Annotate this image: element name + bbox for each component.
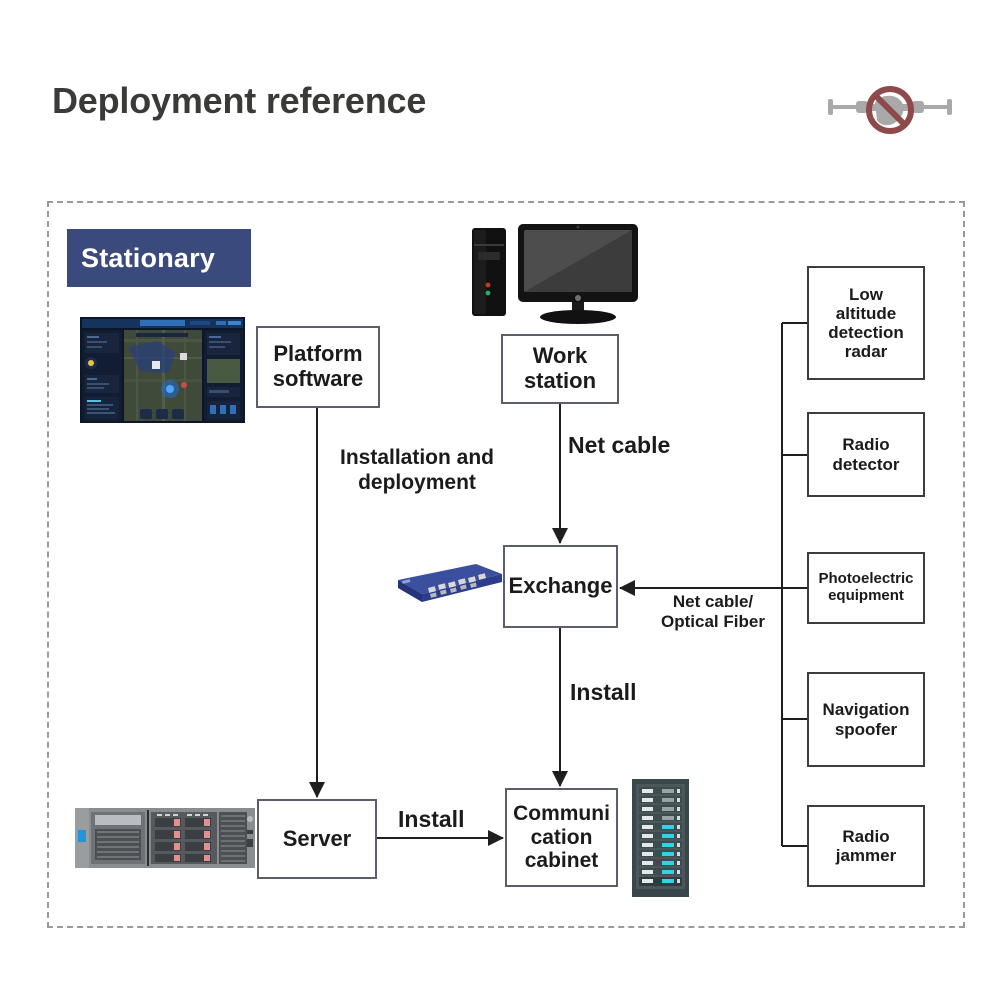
node-communication-cabinet[interactable]: Communi cation cabinet (505, 788, 618, 887)
node-platform-software[interactable]: Platform software (256, 326, 380, 408)
node-communication-cabinet-label: Communi cation cabinet (513, 802, 610, 873)
slide-canvas: Deployment reference Stationary (0, 0, 1000, 1000)
edge-label-install-exchange-cabinet: Install (570, 679, 680, 707)
edge-label-net-cable-optical-fiber: Net cable/ Optical Fiber (638, 592, 788, 633)
device-photoelectric-equipment-label: Photoelectric equipment (818, 571, 913, 605)
device-low-altitude-detection-radar[interactable]: Low altitude detection radar (807, 266, 925, 380)
status-badge-label: Stationary (67, 243, 215, 274)
status-badge-stationary: Stationary (67, 229, 251, 287)
node-work-station-label: Work station (524, 344, 596, 393)
node-server-label: Server (283, 827, 352, 852)
node-server[interactable]: Server (257, 799, 377, 879)
device-navigation-spoofer-label: Navigation spoofer (823, 700, 910, 738)
edge-label-installation-and-deployment: Installation and deployment (322, 445, 512, 495)
node-work-station[interactable]: Work station (501, 334, 619, 404)
edge-label-net-cable: Net cable (568, 432, 708, 460)
no-drone-logo (820, 82, 960, 138)
device-radio-detector[interactable]: Radio detector (807, 412, 925, 497)
edge-label-install-server-cabinet: Install (398, 806, 508, 834)
device-low-altitude-detection-radar-label: Low altitude detection radar (828, 285, 904, 361)
device-radio-jammer-label: Radio jammer (836, 827, 896, 865)
node-exchange[interactable]: Exchange (503, 545, 618, 628)
network-switch-image (392, 562, 504, 609)
device-navigation-spoofer[interactable]: Navigation spoofer (807, 672, 925, 767)
rack-server-image (75, 806, 255, 871)
desktop-computer-image (468, 222, 643, 330)
device-radio-detector-label: Radio detector (832, 435, 899, 473)
node-platform-software-label: Platform software (273, 342, 363, 391)
node-exchange-label: Exchange (509, 574, 613, 599)
device-photoelectric-equipment[interactable]: Photoelectric equipment (807, 552, 925, 624)
page-title: Deployment reference (52, 80, 426, 122)
platform-software-screenshot (80, 317, 245, 423)
communication-cabinet-image (632, 779, 689, 897)
device-radio-jammer[interactable]: Radio jammer (807, 805, 925, 887)
